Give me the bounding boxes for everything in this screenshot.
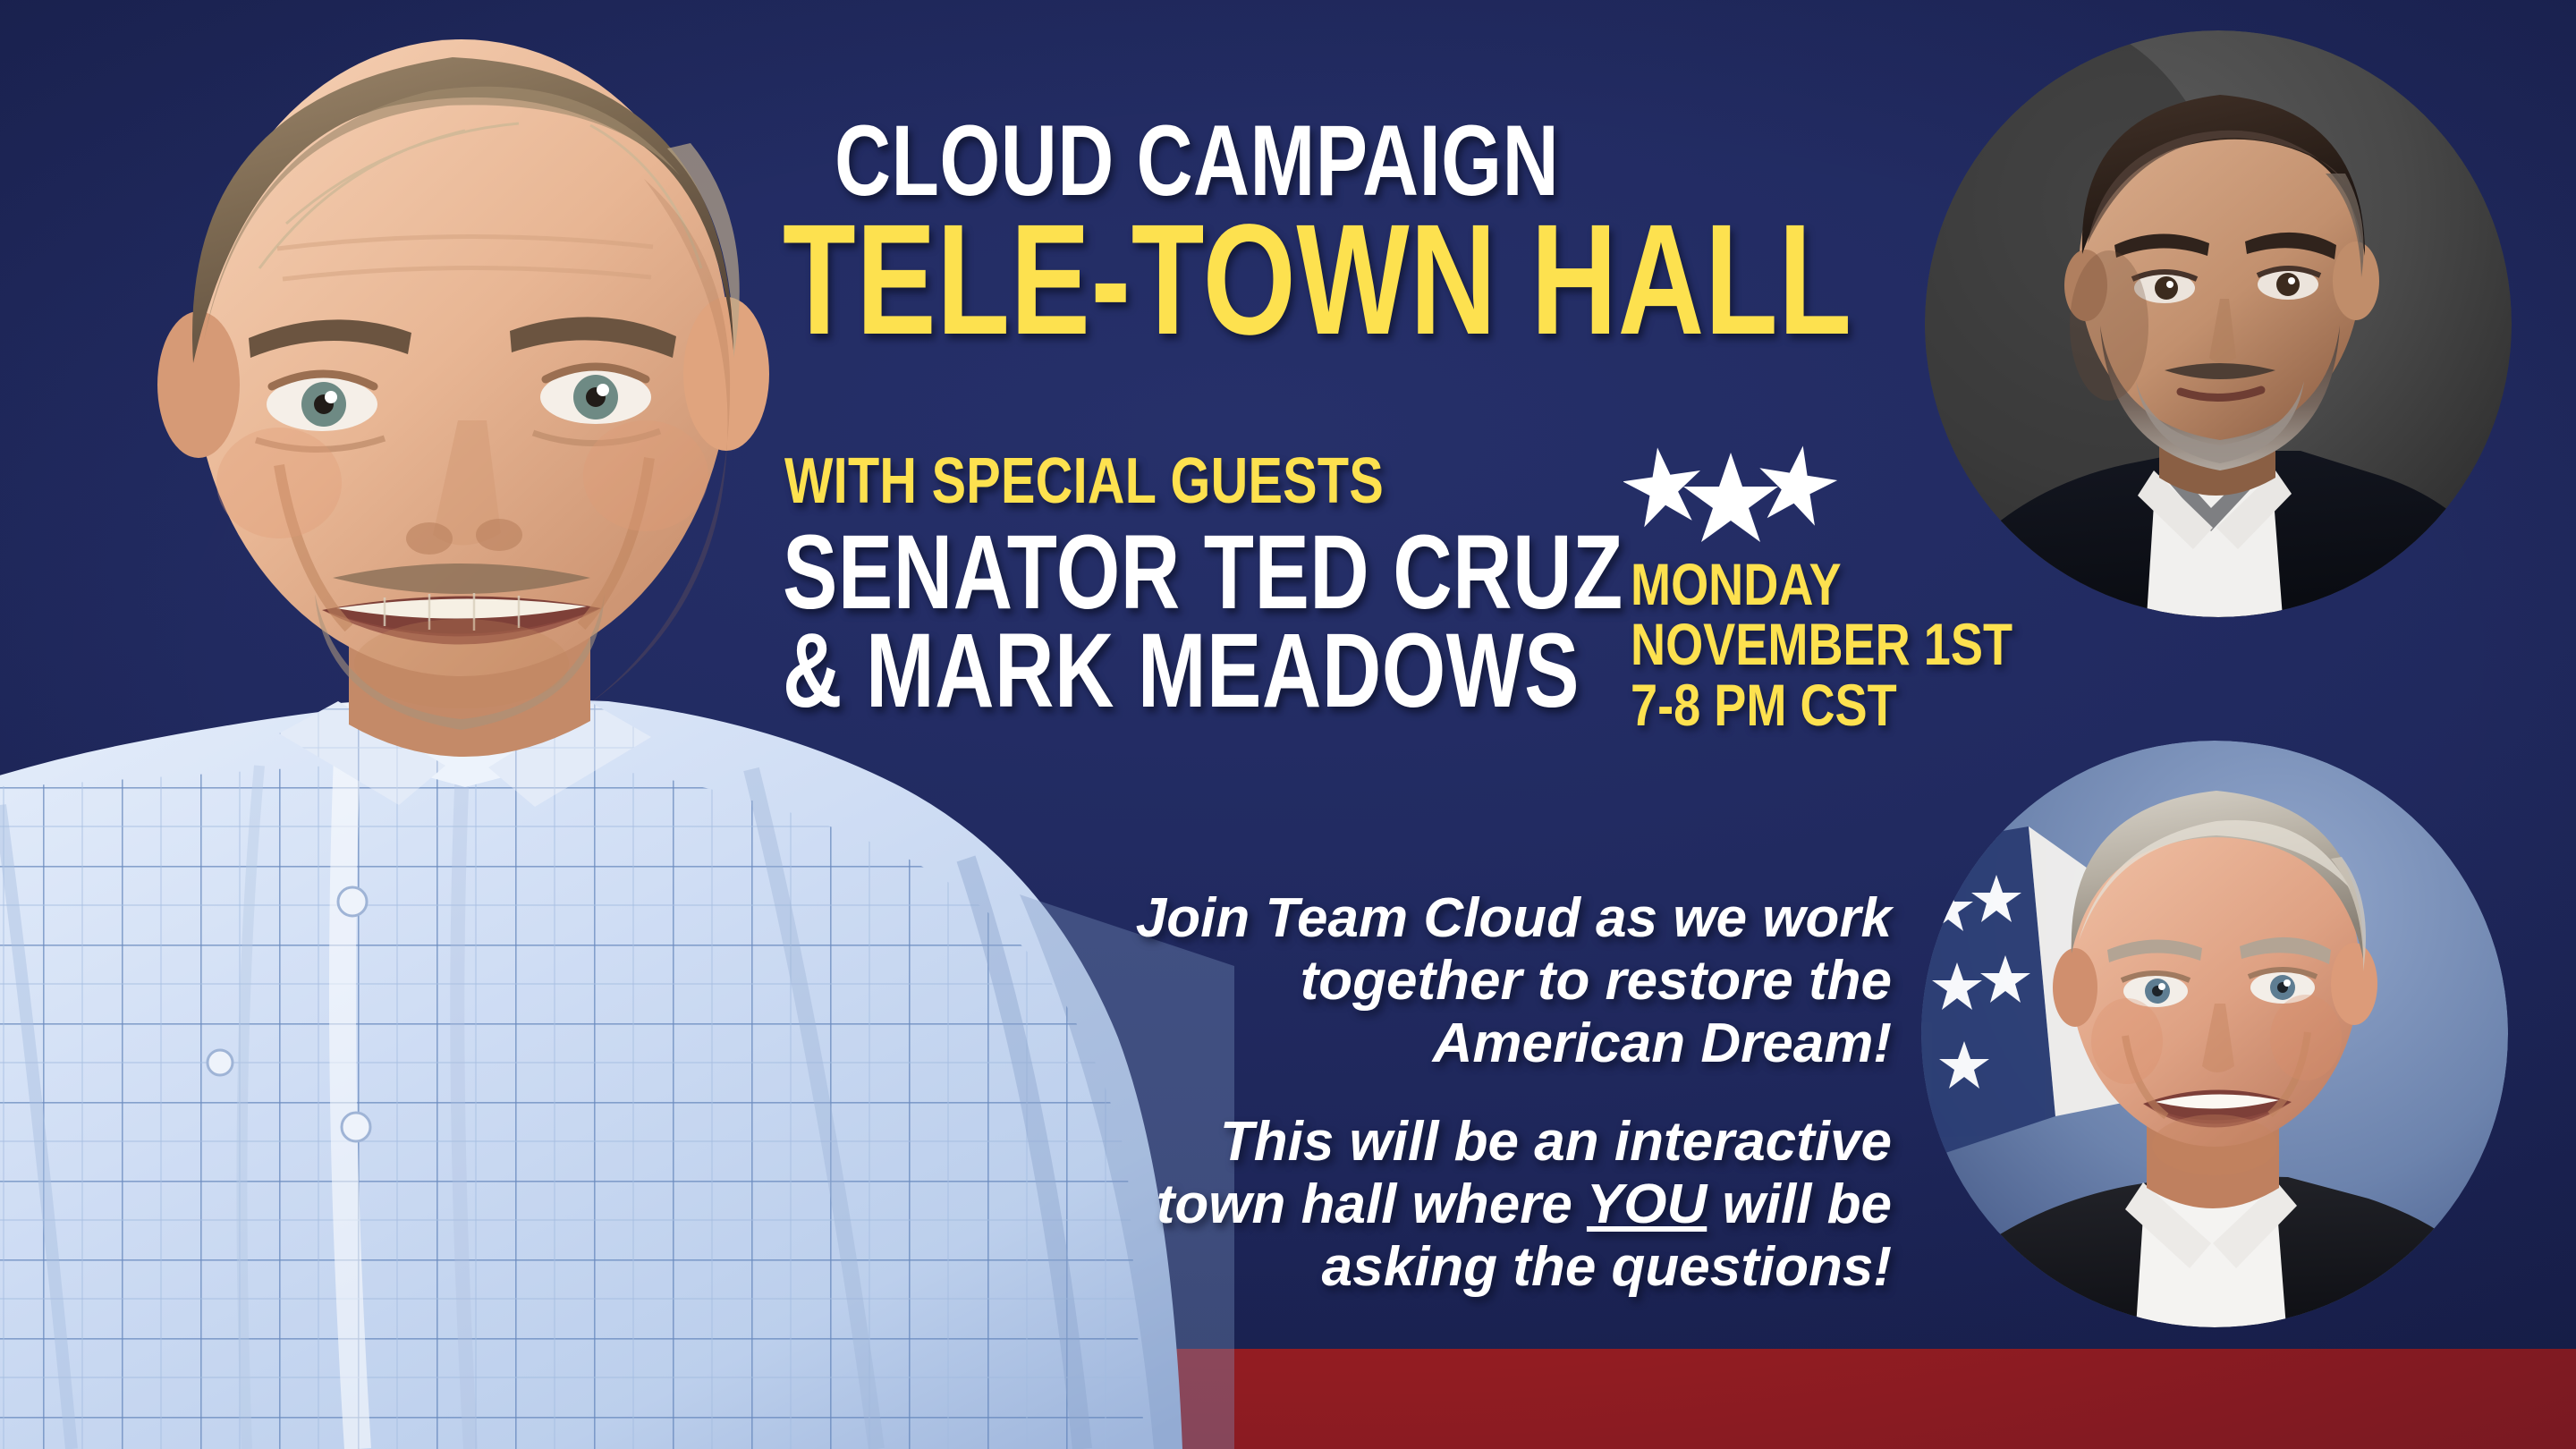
star-icon — [1623, 440, 1838, 542]
body-paragraph-2-emphasis: YOU — [1587, 1174, 1707, 1235]
guest-name-ted-cruz: SENATOR TED CRUZ — [783, 528, 1623, 618]
headline-line-2: TELE-TOWN HALL — [783, 213, 1852, 348]
body-paragraph-2: This will be an interactive town hall wh… — [1087, 1111, 1892, 1299]
poster-content: CLOUD CAMPAIGN TELE-TOWN HALL WITH SPECI… — [783, 0, 1954, 1449]
event-date: NOVEMBER 1ST — [1631, 614, 1873, 674]
three-stars-decoration — [1623, 440, 1838, 547]
guest-name-mark-meadows: & MARK MEADOWS — [783, 626, 1580, 716]
event-time: 7-8 PM CST — [1631, 675, 1873, 735]
event-datetime: MONDAY NOVEMBER 1ST 7-8 PM CST — [1631, 555, 1926, 735]
headline-line-1: CLOUD CAMPAIGN — [835, 118, 1559, 204]
campaign-poster: CLOUD CAMPAIGN TELE-TOWN HALL WITH SPECI… — [0, 0, 2576, 1449]
guests-kicker: WITH SPECIAL GUESTS — [784, 454, 1384, 510]
body-paragraph-1: Join Team Cloud as we work together to r… — [1087, 887, 1892, 1075]
mark-meadows-portrait — [1921, 741, 2508, 1327]
ted-cruz-portrait — [1925, 30, 2512, 617]
event-day: MONDAY — [1631, 555, 1873, 614]
